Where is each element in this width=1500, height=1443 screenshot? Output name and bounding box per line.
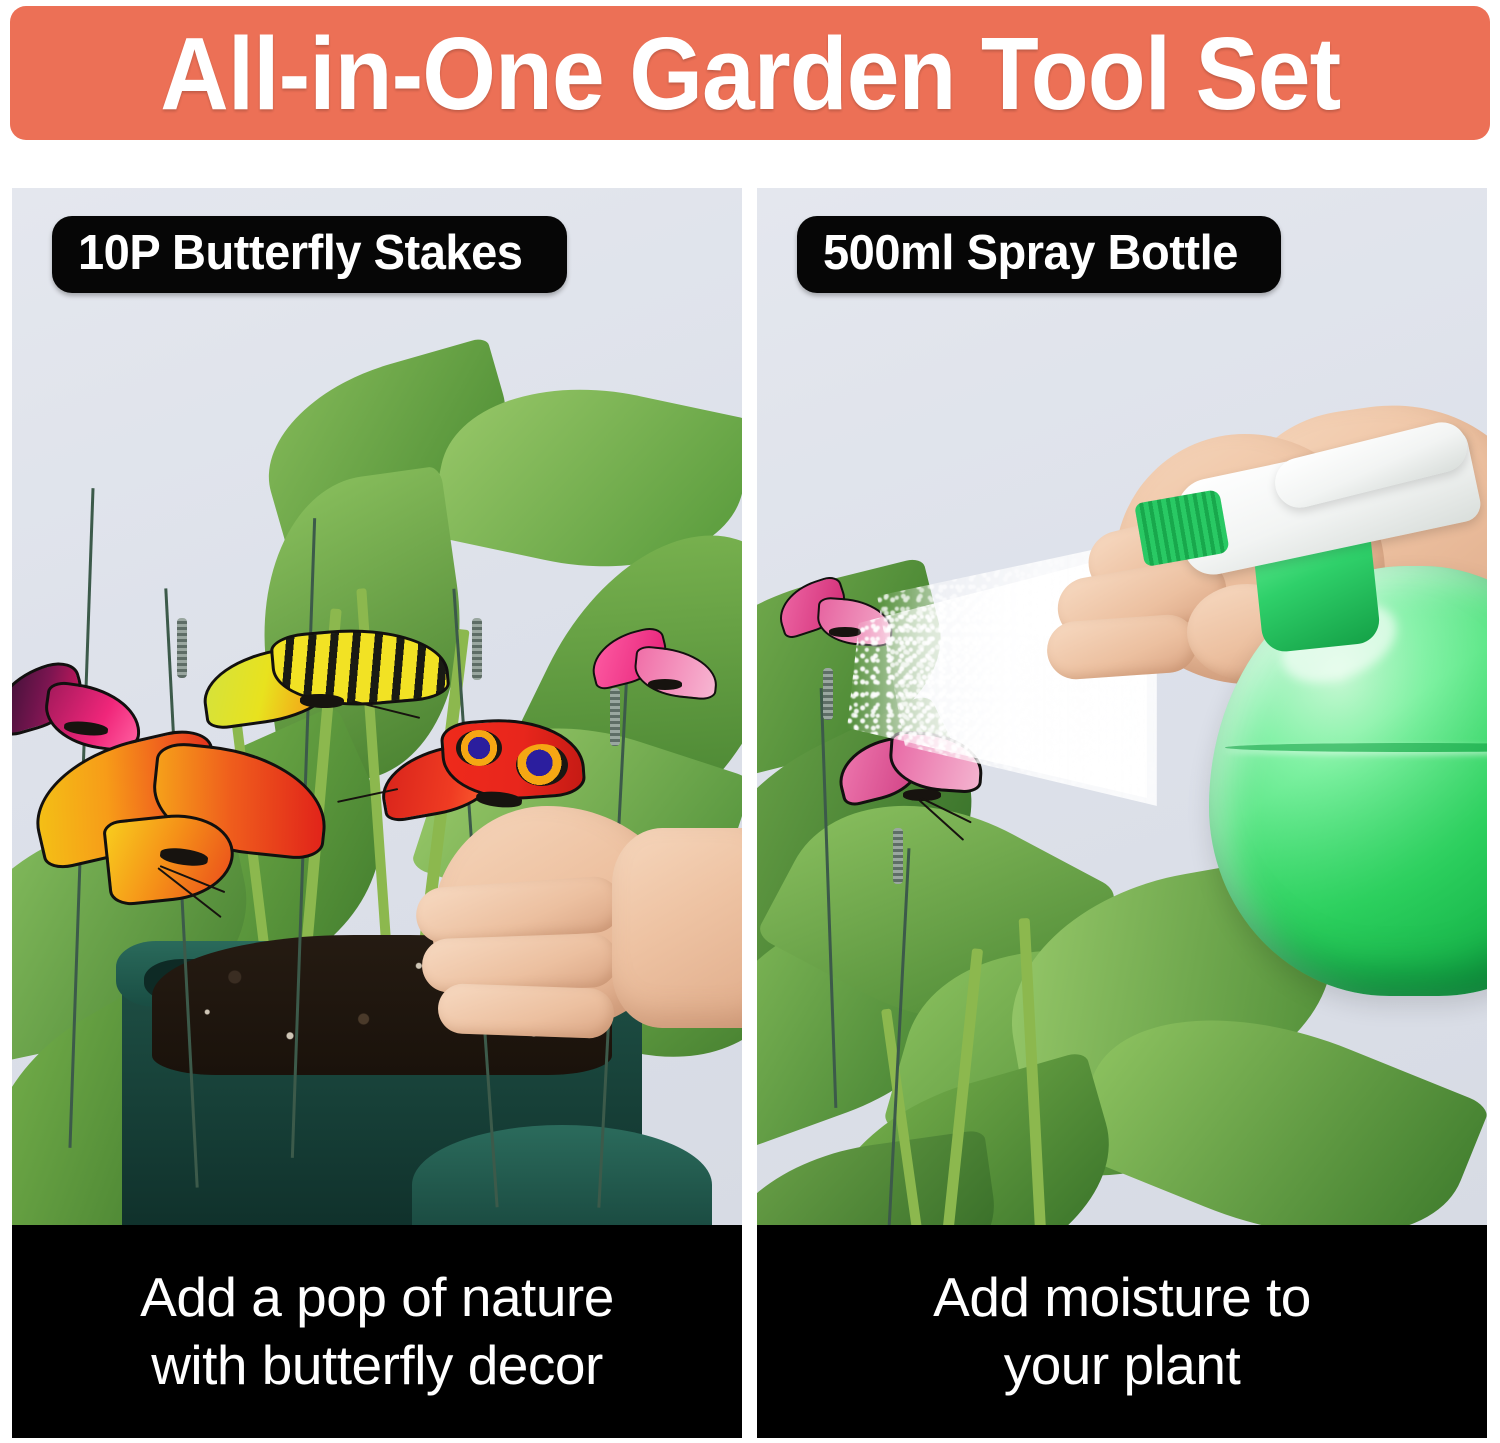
caption-line-2: your plant (1004, 1334, 1241, 1398)
badge-label: 10P Butterfly Stakes (78, 228, 522, 279)
stake-coil (472, 618, 482, 680)
badge-label: 500ml Spray Bottle (823, 228, 1238, 279)
header-banner: All-in-One Garden Tool Set (10, 6, 1490, 140)
badge-10p-butterfly-stakes: 10P Butterfly Stakes (52, 216, 567, 293)
finger (1045, 613, 1199, 681)
photo-butterfly-stakes: 10P Butterfly Stakes (12, 188, 742, 1225)
finger (421, 933, 619, 994)
badge-500ml-spray-bottle: 500ml Spray Bottle (797, 216, 1281, 293)
leaf (757, 1129, 1007, 1225)
butterfly-stake-red-peacock (380, 718, 590, 848)
panel-row: 10P Butterfly Stakes Add a pop of nature… (12, 188, 1488, 1438)
butterfly-stake-pink (590, 633, 720, 713)
stake-coil (893, 828, 903, 884)
butterfly-stake-orange (32, 743, 322, 933)
caption-line-1: Add a pop of nature (140, 1266, 614, 1330)
caption-spray-bottle: Add moisture to your plant (757, 1225, 1487, 1438)
forearm (612, 828, 742, 1028)
stake-coil (177, 618, 187, 678)
caption-line-2: with butterfly decor (151, 1334, 603, 1398)
photo-spray-bottle: 500ml Spray Bottle (757, 188, 1487, 1225)
panel-spray-bottle: 500ml Spray Bottle Add moisture to your … (757, 188, 1487, 1438)
stake-coil (823, 668, 833, 720)
finger (437, 983, 615, 1039)
caption-butterfly-stakes: Add a pop of nature with butterfly decor (12, 1225, 742, 1438)
page-title: All-in-One Garden Tool Set (160, 22, 1340, 125)
product-infographic: All-in-One Garden Tool Set (0, 0, 1500, 1443)
caption-line-1: Add moisture to (933, 1266, 1311, 1330)
panel-butterfly-stakes: 10P Butterfly Stakes Add a pop of nature… (12, 188, 742, 1438)
